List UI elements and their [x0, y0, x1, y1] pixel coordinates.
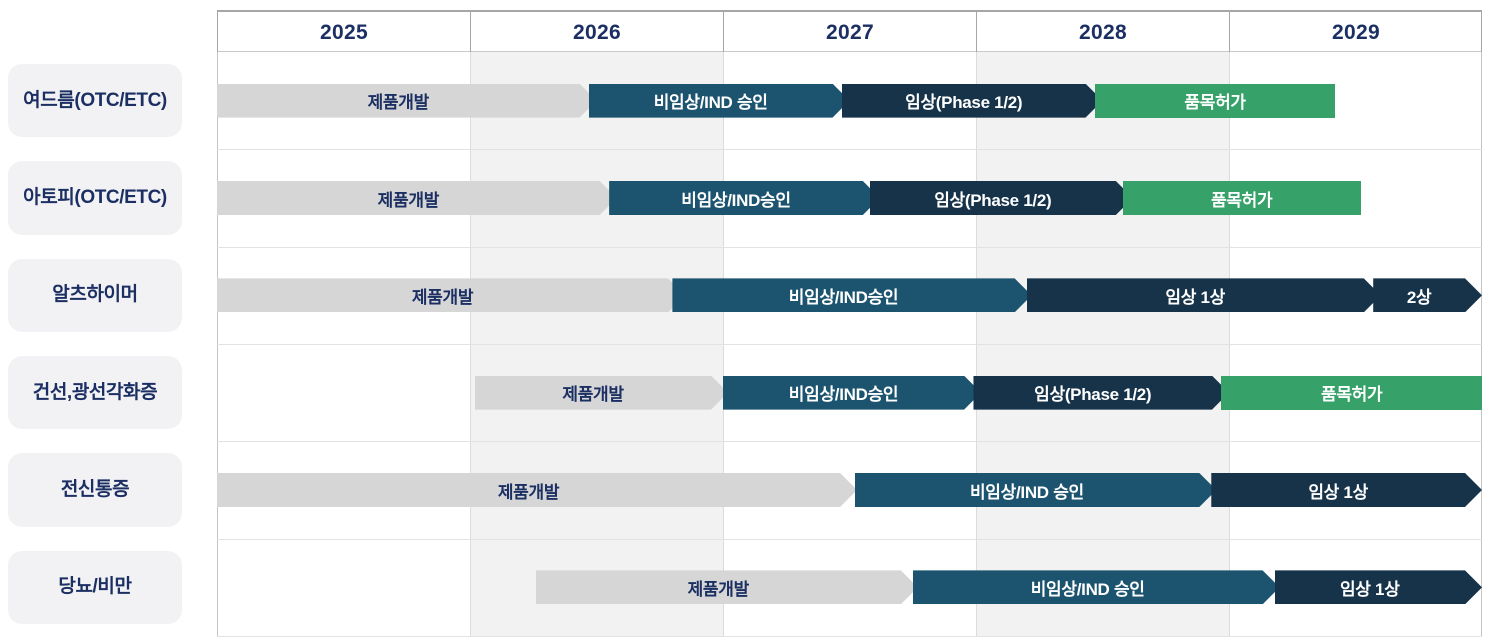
pipeline-label-column: 여드름(OTC/ETC)아토피(OTC/ETC)알츠하이머건선,광선각화증전신통…: [0, 0, 210, 641]
timeline-bar[interactable]: 품목허가: [1123, 181, 1361, 215]
timeline-bar[interactable]: 임상 1상: [1027, 278, 1381, 312]
timeline-bar[interactable]: 임상(Phase 1/2): [842, 84, 1103, 118]
timeline-bar[interactable]: 제품개발: [217, 181, 617, 215]
timeline-bar[interactable]: 비임상/IND승인: [672, 278, 1031, 312]
timeline-bar[interactable]: 제품개발: [217, 473, 857, 507]
pipeline-label-line: 광선각화증: [72, 381, 157, 405]
pipeline-label-line: 전신통증: [61, 478, 129, 502]
timeline-bar[interactable]: 품목허가: [1095, 84, 1335, 118]
timeline-bar[interactable]: 임상 1상: [1211, 473, 1482, 507]
timeline-bar-label: 제품개발: [498, 478, 559, 503]
timeline-bar[interactable]: 제품개발: [217, 84, 597, 118]
timeline-bar[interactable]: 비임상/IND 승인: [913, 570, 1280, 604]
timeline-bar-label: 비임상/IND승인: [789, 380, 899, 405]
timeline-bar[interactable]: 2상: [1373, 278, 1482, 312]
year-header-2029: 2029: [1229, 12, 1482, 54]
pipeline-label-1[interactable]: 아토피(OTC/ETC): [8, 161, 182, 234]
timeline-bar-label: 비임상/IND 승인: [654, 88, 768, 113]
timeline-bar[interactable]: 임상(Phase 1/2): [973, 376, 1229, 410]
year-header-2028: 2028: [976, 12, 1229, 54]
timeline-bar-label: 제품개발: [688, 575, 749, 600]
timeline-bar[interactable]: 제품개발: [536, 570, 918, 604]
timeline-bar[interactable]: 임상(Phase 1/2): [870, 181, 1133, 215]
timeline-bar-label: 품목허가: [1211, 186, 1272, 211]
timeline-bar-label: 제품개발: [412, 283, 473, 308]
pipeline-label-4[interactable]: 전신통증: [8, 453, 182, 526]
timeline-bar-label: 품목허가: [1321, 380, 1382, 405]
timeline-bar-label: 임상 1상: [1308, 478, 1368, 503]
timeline-chart: 20252026202720282029 제품개발비임상/IND 승인임상(Ph…: [217, 10, 1482, 636]
year-header-2027: 2027: [723, 12, 976, 54]
year-header-row: 20252026202720282029: [217, 10, 1482, 52]
timeline-bar[interactable]: 제품개발: [217, 278, 685, 312]
timeline-bar[interactable]: 제품개발: [475, 376, 728, 410]
timeline-bar[interactable]: 비임상/IND 승인: [855, 473, 1217, 507]
pipeline-label-3[interactable]: 건선,광선각화증: [8, 356, 182, 429]
timeline-bar-label: 품목허가: [1184, 88, 1245, 113]
pipeline-label-2[interactable]: 알츠하이머: [8, 259, 182, 332]
timeline-bar[interactable]: 품목허가: [1221, 376, 1482, 410]
timeline-bar-label: 비임상/IND승인: [789, 283, 899, 308]
timeline-bar[interactable]: 비임상/IND 승인: [589, 84, 850, 118]
timeline-bar-label: 비임상/IND승인: [681, 186, 791, 211]
timeline-bar-label: 제품개발: [562, 380, 623, 405]
timeline-bar-label: 임상 1상: [1165, 283, 1225, 308]
year-header-2026: 2026: [470, 12, 723, 54]
pipeline-label-line: (OTC/ETC): [74, 89, 166, 113]
timeline-bars-layer: 제품개발비임상/IND 승인임상(Phase 1/2)품목허가제품개발비임상/I…: [217, 52, 1482, 636]
year-header-2025: 2025: [217, 12, 470, 54]
timeline-bar-label: 임상(Phase 1/2): [934, 186, 1051, 211]
row-divider: [217, 636, 1482, 637]
timeline-bar-label: 제품개발: [378, 186, 439, 211]
pipeline-label-line: 당뇨/비만: [58, 575, 131, 599]
pipeline-label-line: 여드름: [23, 89, 74, 113]
timeline-bar-label: 비임상/IND 승인: [1031, 575, 1145, 600]
pipeline-label-line: 알츠하이머: [52, 283, 137, 307]
timeline-bar[interactable]: 비임상/IND승인: [723, 376, 981, 410]
timeline-bar[interactable]: 임상 1상: [1275, 570, 1482, 604]
timeline-bar-label: 임상(Phase 1/2): [1034, 380, 1151, 405]
pipeline-label-line: 아토피: [23, 186, 74, 210]
timeline-bar-label: 임상 1상: [1340, 575, 1400, 600]
pipeline-label-0[interactable]: 여드름(OTC/ETC): [8, 64, 182, 137]
pipeline-label-line: 건선,: [33, 381, 72, 405]
timeline-bar-label: 임상(Phase 1/2): [905, 88, 1022, 113]
timeline-bar-label: 2상: [1407, 283, 1432, 308]
pipeline-label-line: (OTC/ETC): [74, 186, 166, 210]
roadmap-gantt-chart: 여드름(OTC/ETC)아토피(OTC/ETC)알츠하이머건선,광선각화증전신통…: [0, 0, 1490, 641]
timeline-bar-label: 제품개발: [368, 88, 429, 113]
timeline-bar-label: 비임상/IND 승인: [970, 478, 1084, 503]
pipeline-label-5[interactable]: 당뇨/비만: [8, 551, 182, 624]
timeline-bar[interactable]: 비임상/IND승인: [609, 181, 880, 215]
